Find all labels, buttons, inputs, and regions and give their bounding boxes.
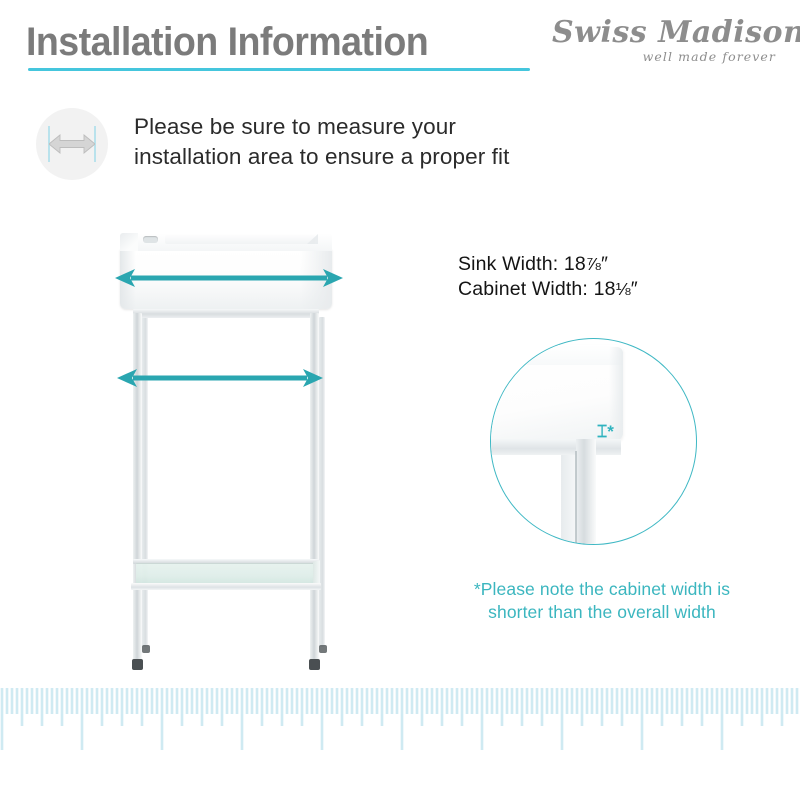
- cabinet-note-line-2: shorter than the overall width: [452, 601, 752, 624]
- product-illustration: [95, 225, 375, 680]
- frame-top-rail: [133, 309, 319, 318]
- sink-width-label: Sink Width:: [458, 253, 558, 275]
- detail-frame-leg-seam: [575, 451, 577, 545]
- brand-tagline: well made forever: [552, 49, 782, 64]
- instruction-row: Please be sure to measure your installat…: [36, 108, 656, 190]
- sink-width-value: 18: [564, 253, 586, 275]
- installation-information-page: Installation Information Swiss Madison® …: [0, 0, 800, 800]
- cabinet-width-arrow: [117, 365, 323, 391]
- cabinet-width-note: *Please note the cabinet width is shorte…: [452, 578, 752, 624]
- title-underline: [28, 68, 530, 71]
- foot-front-left: [132, 659, 143, 670]
- cabinet-width-unit: ″: [631, 278, 638, 300]
- detail-frame-leg: [576, 439, 596, 545]
- cabinet-width-fraction: ⅛: [616, 279, 631, 299]
- shelf-rail-bottom: [131, 583, 321, 590]
- brand-name: Swiss Madison®: [552, 18, 782, 48]
- instruction-line-1: Please be sure to measure your: [134, 112, 509, 142]
- overhang-marker-icon: ⌶*: [597, 423, 614, 440]
- cabinet-width-label: Cabinet Width:: [458, 278, 588, 300]
- sink-corner-bevel: [307, 234, 318, 244]
- instruction-line-2: installation area to ensure a proper fit: [134, 142, 509, 172]
- sink-width-arrow: [115, 265, 343, 291]
- brand-logo: Swiss Madison® well made forever: [552, 18, 782, 76]
- foot-front-right: [309, 659, 320, 670]
- sink-basin-recess: [165, 235, 315, 244]
- page-title: Installation Information: [26, 20, 428, 65]
- foot-rear-left: [142, 645, 150, 653]
- instruction-text: Please be sure to measure your installat…: [134, 112, 509, 172]
- detail-frame-rail: [490, 439, 621, 455]
- dimensions-block: Sink Width: 18⅞″ Cabinet Width: 18⅛″: [458, 252, 638, 302]
- cabinet-note-line-1: *Please note the cabinet width is: [452, 578, 752, 601]
- sink-width-row: Sink Width: 18⅞″: [458, 252, 638, 277]
- sink-top-left-bevel: [120, 233, 138, 251]
- cabinet-width-row: Cabinet Width: 18⅛″: [458, 277, 638, 302]
- decorative-ruler: [0, 682, 800, 782]
- brand-name-text: Swiss Madison: [552, 15, 800, 50]
- sink-width-fraction: ⅞: [586, 254, 601, 274]
- faucet-hole: [143, 236, 158, 243]
- foot-rear-right: [319, 645, 327, 653]
- double-arrow-icon: [49, 132, 95, 156]
- sink-width-unit: ″: [601, 253, 608, 275]
- detail-sink-top: [490, 345, 623, 365]
- page-header: Installation Information Swiss Madison® …: [0, 0, 800, 90]
- cabinet-overhang-detail: ⌶*: [490, 338, 697, 545]
- cabinet-width-value: 18: [594, 278, 616, 300]
- measure-width-icon: [36, 108, 108, 180]
